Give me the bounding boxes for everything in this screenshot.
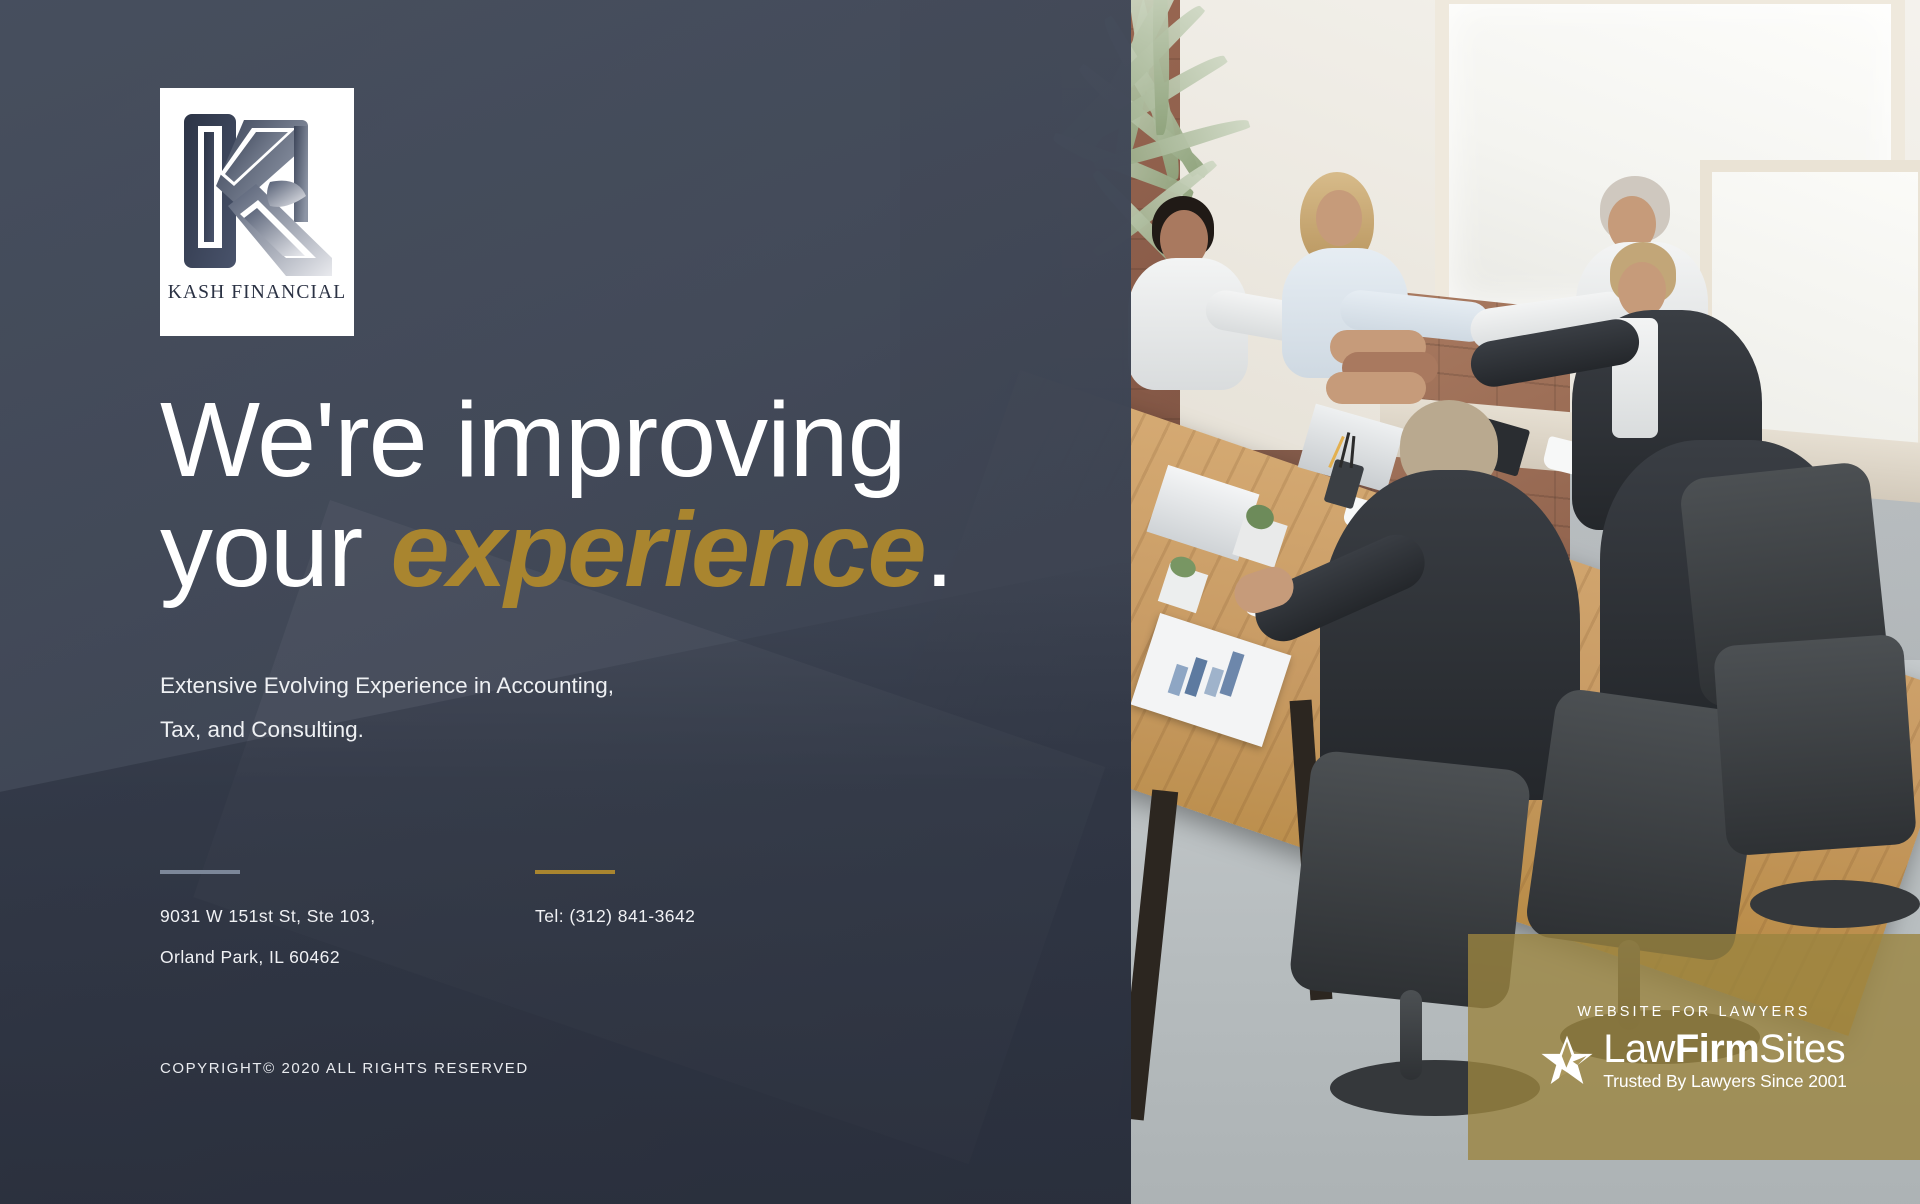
headline-plain: your bbox=[160, 491, 391, 609]
headline-emphasis: experience bbox=[391, 491, 925, 609]
badge-text: LawFirmSites Trusted By Lawyers Since 20… bbox=[1603, 1029, 1847, 1091]
lawfirmsites-badge[interactable]: WEBSITE FOR LAWYERS LawFirmSites Trusted… bbox=[1468, 934, 1920, 1160]
office-chair bbox=[1713, 634, 1917, 857]
subhead-line-1: Extensive Evolving Experience in Account… bbox=[160, 664, 760, 708]
hero-subhead: Extensive Evolving Experience in Account… bbox=[160, 664, 760, 752]
address-column: 9031 W 151st St, Ste 103, Orland Park, I… bbox=[160, 870, 376, 978]
address-rule bbox=[160, 870, 240, 874]
hero-headline: We're improving your experience. bbox=[160, 385, 1060, 605]
badge-name-law: Law bbox=[1603, 1027, 1675, 1071]
headline-line-2: your experience. bbox=[160, 495, 1060, 605]
hero-content: KASH FINANCIAL We're improving your expe… bbox=[0, 0, 1131, 1204]
phone-rule bbox=[535, 870, 615, 874]
brand-wordmark: KASH FINANCIAL bbox=[168, 282, 346, 304]
brand-logo[interactable]: KASH FINANCIAL bbox=[160, 88, 354, 336]
badge-tagline: Trusted By Lawyers Since 2001 bbox=[1603, 1073, 1847, 1091]
subhead-line-2: Tax, and Consulting. bbox=[160, 708, 760, 752]
hand bbox=[1326, 372, 1426, 404]
person-face bbox=[1316, 190, 1362, 246]
address-line-1: 9031 W 151st St, Ste 103, bbox=[160, 896, 376, 937]
address-line-2: Orland Park, IL 60462 bbox=[160, 937, 376, 978]
badge-name-sites: Sites bbox=[1759, 1027, 1845, 1071]
badge-name-firm: Firm bbox=[1675, 1027, 1759, 1071]
badge-kicker: WEBSITE FOR LAWYERS bbox=[1577, 1004, 1810, 1020]
phone-number[interactable]: Tel: (312) 841-3642 bbox=[535, 896, 695, 937]
person-torso-suit bbox=[1320, 470, 1580, 800]
headline-period: . bbox=[925, 491, 953, 609]
kash-k-monogram-icon bbox=[182, 102, 332, 280]
copyright-text: COPYRIGHT© 2020 ALL RIGHTS RESERVED bbox=[160, 1060, 529, 1077]
chair-column bbox=[1400, 990, 1422, 1080]
phone-column: Tel: (312) 841-3642 bbox=[535, 870, 695, 937]
hero-banner: KASH FINANCIAL We're improving your expe… bbox=[0, 0, 1920, 1204]
five-point-star-icon bbox=[1541, 1034, 1593, 1086]
chair-base bbox=[1750, 880, 1920, 928]
badge-logo-row: LawFirmSites Trusted By Lawyers Since 20… bbox=[1541, 1029, 1847, 1091]
headline-line-1: We're improving bbox=[160, 385, 1060, 495]
badge-name: LawFirmSites bbox=[1603, 1029, 1847, 1069]
